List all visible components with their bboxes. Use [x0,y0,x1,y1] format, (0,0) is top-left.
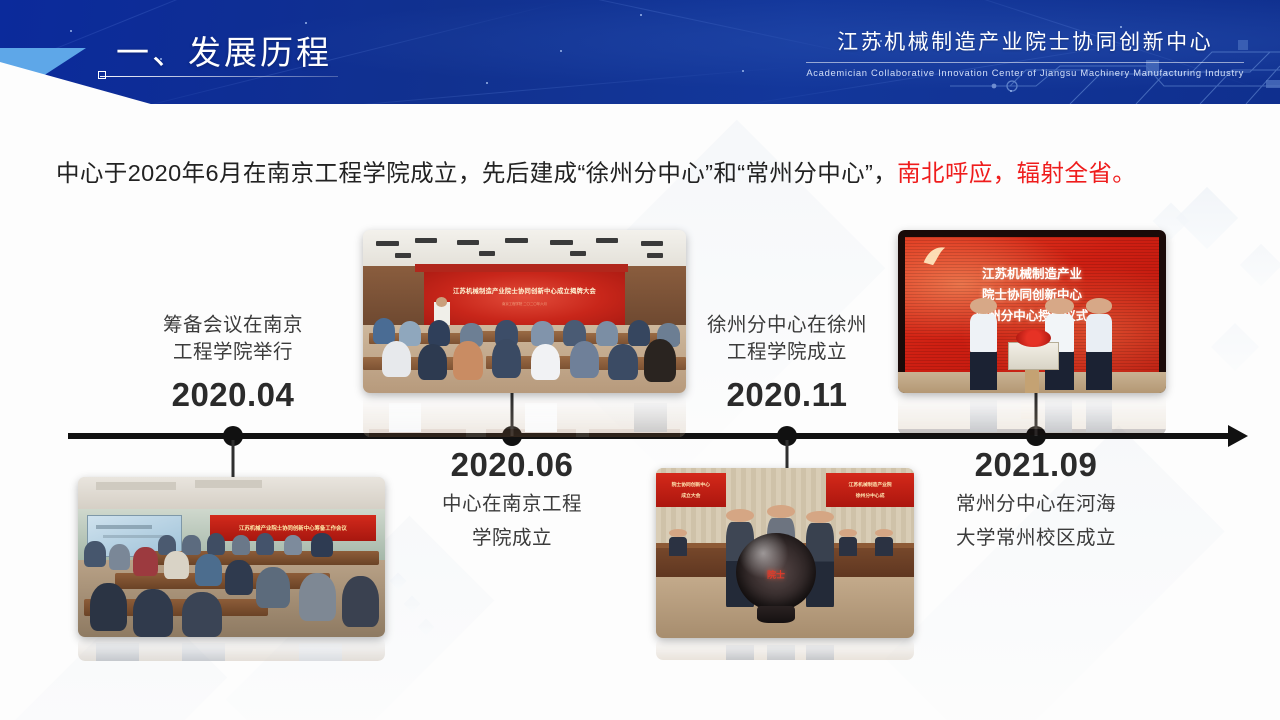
photo-sphere-seated-1 [669,529,687,556]
timeline-item-2: 2020.06 中心在南京工程 学院成立 [402,446,622,552]
org-name-en: Academician Collaborative Innovation Cen… [806,67,1244,78]
photo-sphere-led-right-line1: 江苏机械制造产业院 [826,481,914,488]
timeline-item-1-date: 2020.04 [123,376,343,414]
photo-sphere-led-right-line2: 徐州分中心成 [826,492,914,499]
timeline-item-1-desc-line2: 工程学院举行 [123,339,343,366]
org-name-cn: 江苏机械制造产业院士协同创新中心 [806,26,1244,56]
photo-hall-reflection [363,393,686,437]
photo-sphere-seated-2 [839,529,857,556]
timeline-connector-2 [511,390,514,436]
timeline-item-3: 徐州分中心在徐州 工程学院成立 2020.11 [677,312,897,414]
timeline-connector-3 [786,440,789,470]
photo-hall-banner-subtext: 南京工程学院 二〇二〇年六月 [424,301,624,306]
timeline-item-3-desc-line2: 工程学院成立 [677,339,897,366]
photo-sphere-led-left-line1: 院士协同创新中心 [656,481,726,488]
photo-led-line1: 江苏机械制造产业 [898,263,1166,282]
photo-sphere-ball-text: 院士 [736,568,816,581]
photo-sphere-led-right: 江苏机械制造产业院 徐州分中心成 [826,473,914,507]
photo-sphere-reflection [656,638,914,660]
photo-led-line3: 常州分中心授牌仪式 [898,305,1166,324]
photo-sphere-led-left: 院士协同创新中心 成立大会 [656,473,726,507]
timeline-item-2-desc-line2: 学院成立 [402,525,622,552]
timeline-item-1-desc-line1: 筹备会议在南京 [123,312,343,339]
title-underline [100,76,338,77]
timeline-item-4-desc-line2: 大学常州校区成立 [926,525,1146,552]
timeline-item-4-date: 2021.09 [926,446,1146,484]
timeline-arrowhead [1228,425,1248,447]
lead-text-highlight: 南北呼应，辐射全省。 [897,160,1136,186]
photo-hall-ceremony[interactable]: 江苏机械制造产业院士协同创新中心成立揭牌大会 南京工程学院 二〇二〇年六月 [363,230,686,393]
slide-root: 一、发展历程 江苏机械制造产业院士协同创新中心 Academician Coll… [0,0,1280,720]
photo-sphere-led-left-line2: 成立大会 [656,492,726,499]
title-marker-square [98,71,106,79]
photo-sphere-seated-3 [875,529,893,556]
timeline-connector-1 [232,440,235,480]
organization-branding: 江苏机械制造产业院士协同创新中心 Academician Collaborati… [806,26,1244,78]
timeline-connector-4 [1035,390,1038,436]
lead-paragraph: 中心于2020年6月在南京工程学院成立，先后建成“徐州分中心”和“常州分中心”，… [56,154,1236,188]
timeline-item-3-date: 2020.11 [677,376,897,414]
photo-xuzhou-launch-ceremony[interactable]: 院士协同创新中心 成立大会 江苏机械制造产业院 徐州分中心成 [656,468,914,638]
photo-led-person-left [970,298,997,389]
photo-sphere-launch-ball: 院士 [736,533,816,611]
photo-preparation-meeting[interactable]: 江苏机械产业院士协同创新中心筹备工作会议 [78,477,385,637]
timeline-item-4-desc-line1: 常州分中心在河海 [926,491,1146,518]
timeline-axis [68,433,1236,439]
photo-changzhou-plaque-ceremony[interactable]: 江苏机械制造产业 院士协同创新中心 常州分中心授牌仪式 [898,230,1166,393]
photo-hall-banner-text: 江苏机械制造产业院士协同创新中心成立揭牌大会 [424,286,624,295]
page-title: 一、发展历程 [116,26,332,74]
timeline-item-2-desc-line1: 中心在南京工程 [402,491,622,518]
photo-meeting-reflection [78,637,385,661]
slide-header: 一、发展历程 江苏机械制造产业院士协同创新中心 Academician Coll… [0,0,1280,104]
photo-led-line2: 院士协同创新中心 [898,284,1166,303]
timeline-item-4: 2021.09 常州分中心在河海 大学常州校区成立 [926,446,1146,552]
timeline-item-3-desc-line1: 徐州分中心在徐州 [677,312,897,339]
lead-text-main: 中心于2020年6月在南京工程学院成立，先后建成“徐州分中心”和“常州分中心”， [56,160,897,186]
org-name-divider [806,62,1244,63]
timeline-item-1: 筹备会议在南京 工程学院举行 2020.04 [123,312,343,414]
timeline-item-2-date: 2020.06 [402,446,622,484]
photo-led-person-right [1086,298,1113,389]
